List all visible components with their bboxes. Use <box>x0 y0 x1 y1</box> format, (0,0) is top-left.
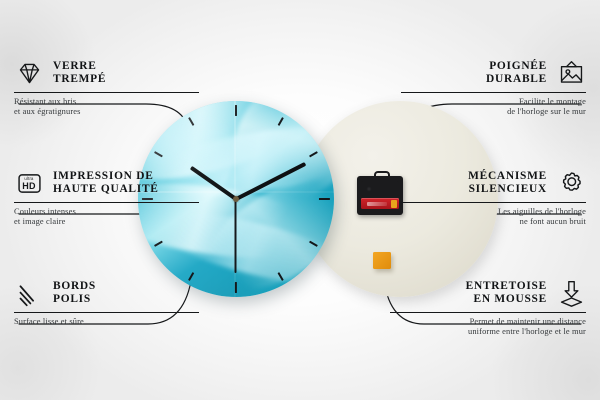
battery-label <box>367 202 387 206</box>
feature-header: ENTRETOISE EN MOUSSE <box>390 278 586 308</box>
feature-title-line1: VERRE <box>53 60 97 72</box>
feature-title-line2: DURABLE <box>486 73 547 85</box>
feature-title-line2: TREMPÉ <box>53 73 106 85</box>
feature-divider <box>401 92 586 93</box>
feature-desc-line2: et aux égratignures <box>14 107 81 116</box>
infographic-canvas: VERRE TREMPÉ Résistant aux bris et aux é… <box>0 0 600 400</box>
polished-edges-icon <box>14 278 44 308</box>
gear-icon <box>556 168 586 198</box>
feature-poignee-durable: POIGNÉE DURABLE Facilite le montage de l… <box>401 58 586 118</box>
feature-divider <box>14 92 199 93</box>
battery <box>361 198 399 209</box>
feature-title: BORDS POLIS <box>53 280 96 307</box>
feature-mecanisme-silencieux: MÉCANISME SILENCIEUX Les aiguilles de l'… <box>401 168 586 228</box>
feature-divider <box>390 312 586 313</box>
feature-title-line1: IMPRESSION DE <box>53 170 154 182</box>
feature-description: Les aiguilles de l'horloge ne font aucun… <box>401 207 586 228</box>
feature-title: IMPRESSION DE HAUTE QUALITÉ <box>53 170 159 197</box>
feature-entretoise-mousse: ENTRETOISE EN MOUSSE Permet de maintenir… <box>390 278 586 338</box>
picture-hanger-icon <box>556 58 586 88</box>
feature-title-line1: ENTRETOISE <box>466 280 547 292</box>
feature-description: Surface lisse et sûre <box>14 317 199 328</box>
feature-desc-line1: Permet de maintenir une distance <box>470 317 586 326</box>
foam-spacer <box>373 252 391 269</box>
feature-header: POIGNÉE DURABLE <box>401 58 586 88</box>
feature-title-line2: POLIS <box>53 293 91 305</box>
ultra-hd-icon-big-text: HD <box>14 182 44 191</box>
feature-title: POIGNÉE DURABLE <box>486 60 547 87</box>
clock-mechanism <box>357 171 403 215</box>
feature-divider <box>401 202 586 203</box>
feature-desc-line1: Les aiguilles de l'horloge <box>498 207 586 216</box>
feature-header: VERRE TREMPÉ <box>14 58 199 88</box>
feature-title: VERRE TREMPÉ <box>53 60 106 87</box>
feature-title: MÉCANISME SILENCIEUX <box>468 170 547 197</box>
diamond-icon <box>14 58 44 88</box>
feature-divider <box>14 312 199 313</box>
feature-verre-trempe: VERRE TREMPÉ Résistant aux bris et aux é… <box>14 58 199 118</box>
feature-desc-line2: et image claire <box>14 217 66 226</box>
feature-description: Permet de maintenir une distance uniform… <box>390 317 586 338</box>
feature-title-line1: POIGNÉE <box>489 60 547 72</box>
feature-description: Facilite le montage de l'horloge sur le … <box>401 97 586 118</box>
mechanism-gear-detail <box>361 181 399 196</box>
feature-title-line2: EN MOUSSE <box>473 293 547 305</box>
feature-desc-line1: Surface lisse et sûre <box>14 317 84 326</box>
feature-impression-hd: ultra HD IMPRESSION DE HAUTE QUALITÉ Cou… <box>14 168 199 228</box>
feature-desc-line1: Résistant aux bris <box>14 97 76 106</box>
feature-divider <box>14 202 199 203</box>
battery-positive-cap <box>391 200 397 208</box>
feature-desc-line2: uniforme entre l'horloge et le mur <box>468 327 586 336</box>
feature-title: ENTRETOISE EN MOUSSE <box>466 280 547 307</box>
feature-header: ultra HD IMPRESSION DE HAUTE QUALITÉ <box>14 168 199 198</box>
ultra-hd-icon: ultra HD <box>14 168 44 198</box>
feature-desc-line2: ne font aucun bruit <box>520 217 586 226</box>
feature-title-line1: MÉCANISME <box>468 170 547 182</box>
feature-description: Couleurs intenses et image claire <box>14 207 199 228</box>
feature-title-line2: HAUTE QUALITÉ <box>53 183 159 195</box>
feature-bords-polis: BORDS POLIS Surface lisse et sûre <box>14 278 199 327</box>
feature-title-line1: BORDS <box>53 280 96 292</box>
feature-header: BORDS POLIS <box>14 278 199 308</box>
feature-description: Résistant aux bris et aux égratignures <box>14 97 199 118</box>
foam-spacer-icon <box>556 278 586 308</box>
feature-title-line2: SILENCIEUX <box>469 183 547 195</box>
feature-desc-line1: Couleurs intenses <box>14 207 76 216</box>
feature-header: MÉCANISME SILENCIEUX <box>401 168 586 198</box>
feature-desc-line2: de l'horloge sur le mur <box>507 107 586 116</box>
feature-desc-line1: Facilite le montage <box>519 97 586 106</box>
